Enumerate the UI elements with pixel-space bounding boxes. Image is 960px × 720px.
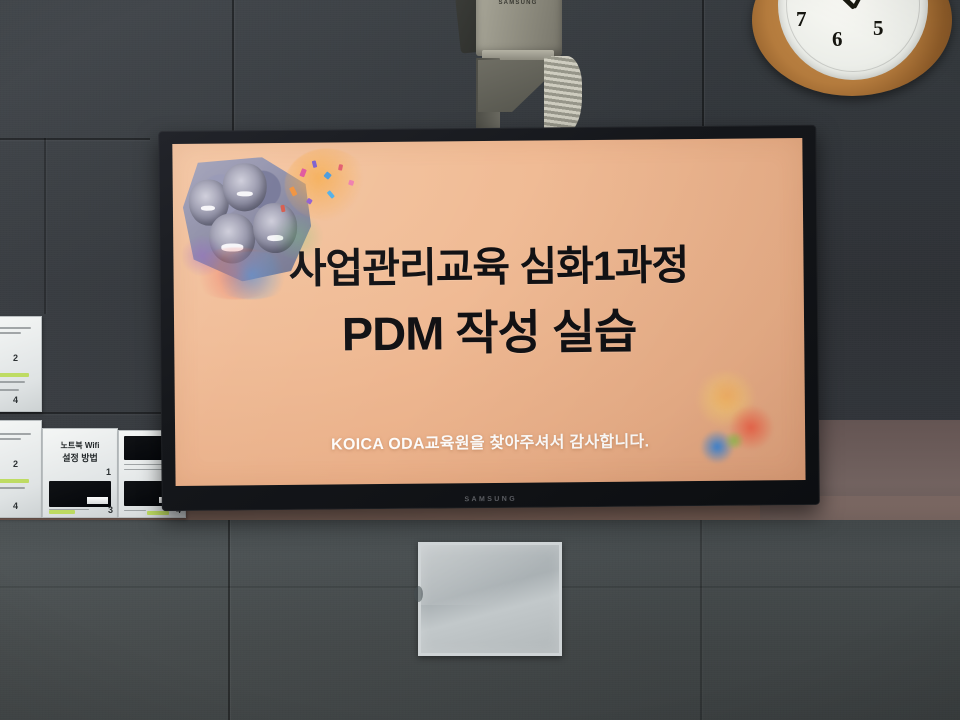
clock-number-5: 5	[873, 16, 884, 41]
wall-seam	[44, 138, 46, 314]
panel-mount-dot	[414, 586, 423, 602]
clock-number-7: 7	[796, 7, 807, 32]
wall-seam	[702, 0, 704, 132]
poster-step-number: 2	[13, 353, 18, 363]
security-camera: SAMSUNG	[452, 0, 602, 134]
poster-wifi-guide-left: 노트북 Wifi 설정 방법 1 3	[42, 428, 118, 518]
camera-arm	[478, 60, 552, 112]
poster-step-number: 4	[13, 501, 18, 511]
wall-mounted-television[interactable]: 사업관리교육 심화1과정 PDM 작성 실습 KOICA ODA교육원을 찾아주…	[158, 125, 820, 511]
wifi-poster-title-line2: 설정 방법	[43, 453, 117, 464]
wall-seam	[700, 520, 702, 720]
room-scene: SAMSUNG SEIKO 4 5 6 7 8 2 4 2 4 노트북	[0, 0, 960, 720]
poster-step-number: 2	[13, 459, 18, 469]
slide-title-line2: PDM 작성 실습	[174, 291, 805, 366]
wifi-poster-step-1: 1	[106, 467, 111, 477]
wall-seam	[228, 520, 230, 720]
poster-left-lower: 2 4	[0, 420, 42, 518]
camera-body	[476, 0, 562, 56]
clock-number-6: 6	[832, 27, 843, 52]
splash-orange	[284, 148, 369, 221]
panel-glare	[421, 545, 559, 605]
wifi-poster-title-line1: 노트북 Wifi	[43, 441, 117, 451]
watercolor-flowers	[677, 370, 798, 477]
wall-seam	[0, 138, 150, 140]
wifi-poster-step-3: 3	[108, 505, 113, 515]
tv-screen[interactable]: 사업관리교육 심화1과정 PDM 작성 실습 KOICA ODA교육원을 찾아주…	[172, 138, 805, 486]
poster-step-number: 4	[13, 395, 18, 405]
camera-brand-label: SAMSUNG	[484, 0, 552, 6]
wall-sign-panel[interactable]	[418, 542, 562, 656]
slide-title-line1: 사업관리교육 심화1과정	[173, 230, 804, 296]
poster-left-upper: 2 4	[0, 316, 42, 412]
camera-coiled-cable	[544, 56, 582, 134]
flower-peach	[707, 379, 747, 413]
wall-seam	[0, 412, 178, 414]
wifi-poster-screenshot-3	[49, 481, 111, 507]
